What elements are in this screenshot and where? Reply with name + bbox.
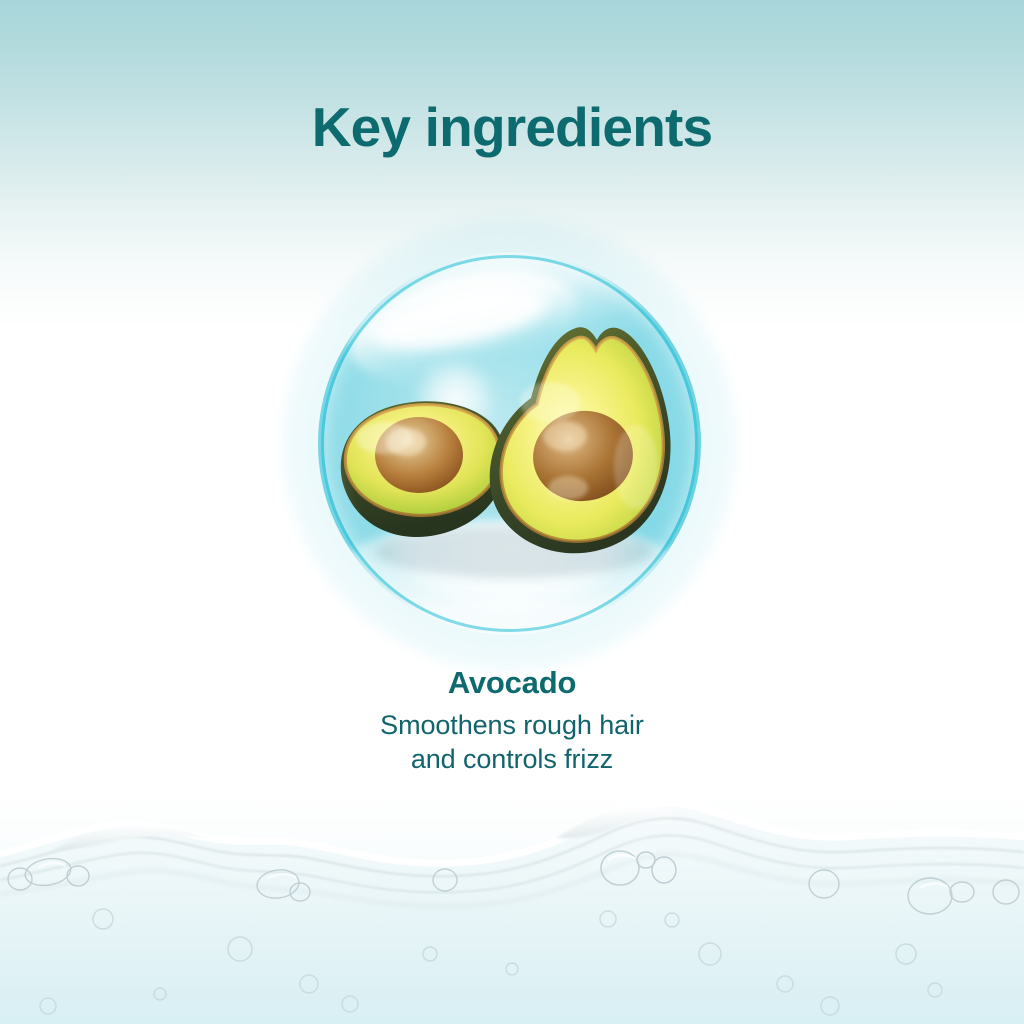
- ingredient-caption: Avocado Smoothens rough hair and control…: [0, 664, 1024, 777]
- ingredient-name: Avocado: [0, 664, 1024, 703]
- ingredient-benefit-line-1: Smoothens rough hair: [0, 708, 1024, 743]
- water-surface-graphic: [0, 794, 1024, 1024]
- bubble-rim: [321, 255, 698, 632]
- ingredient-benefit-line-2: and controls frizz: [0, 742, 1024, 777]
- page-title: Key ingredients: [0, 97, 1024, 158]
- water-bubble-sphere: [318, 252, 701, 635]
- ingredient-benefit: Smoothens rough hair and controls frizz: [0, 708, 1024, 777]
- key-ingredients-panel: Key ingredients: [0, 0, 1024, 1024]
- ingredient-image: [318, 252, 701, 635]
